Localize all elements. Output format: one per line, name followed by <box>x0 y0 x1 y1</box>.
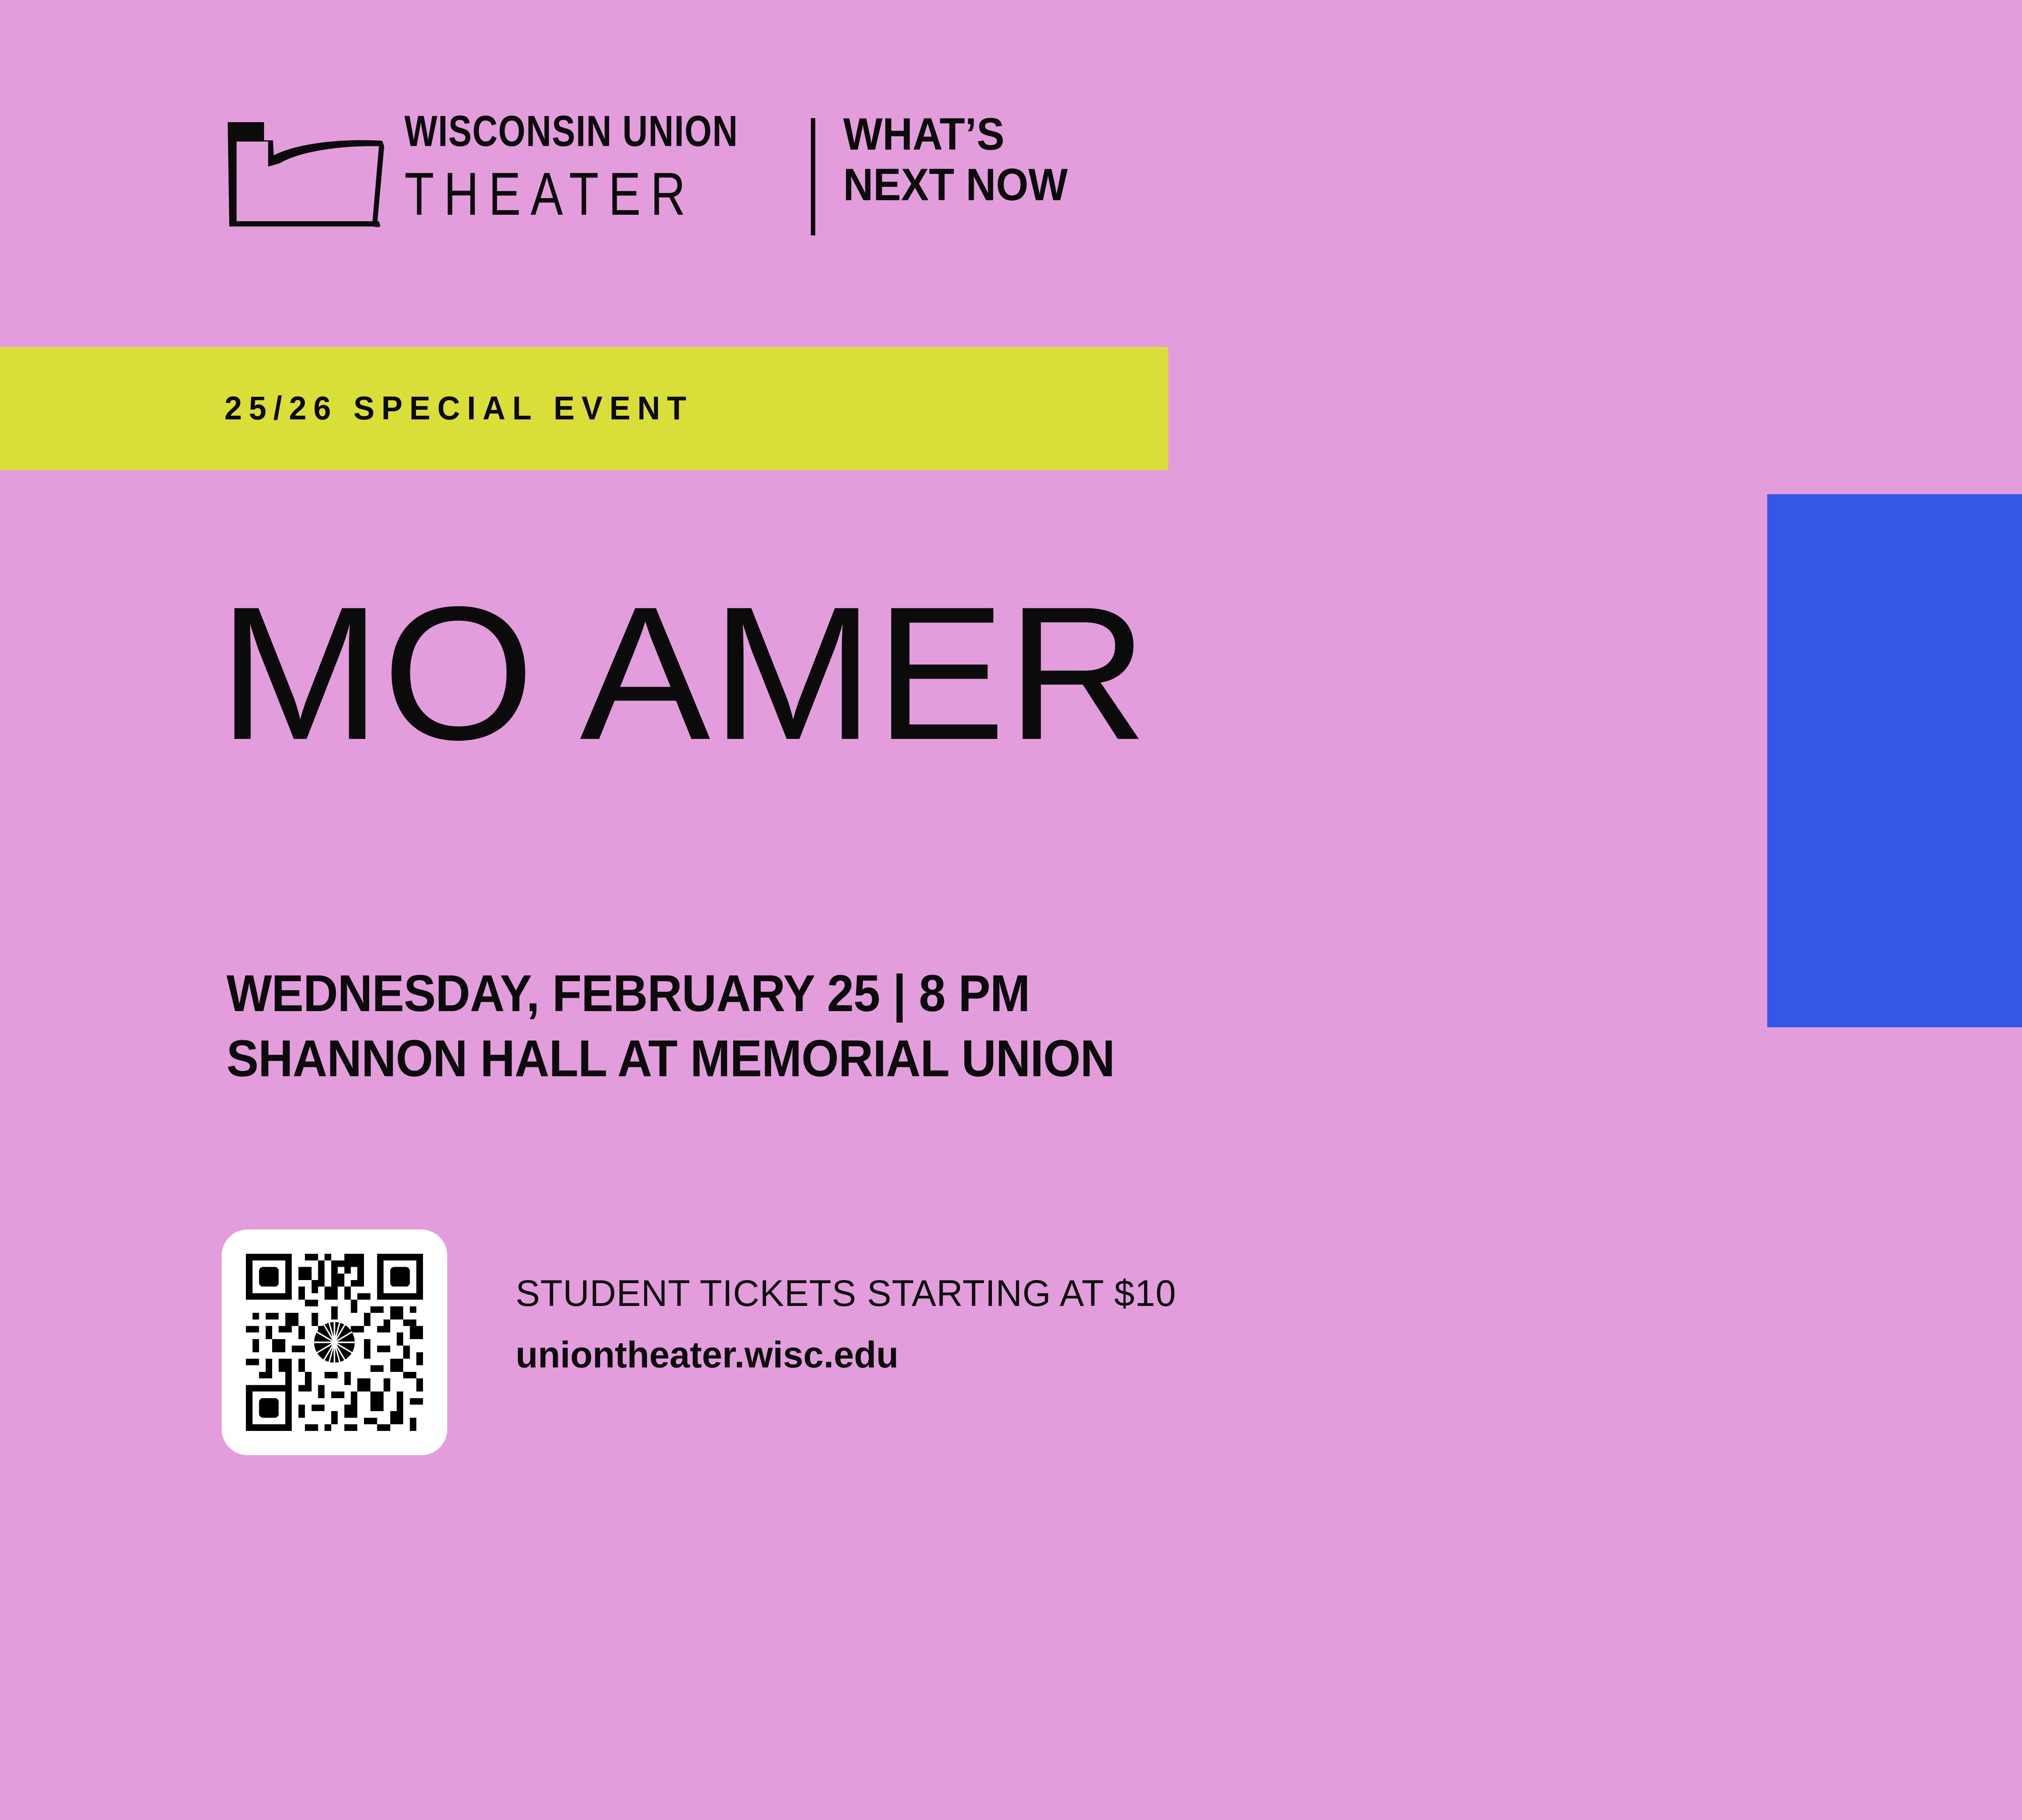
logo-wordmark: WISCONSIN UNION THEATER <box>404 109 822 224</box>
logo-tagline: WHAT’S NEXT NOW <box>843 112 1087 207</box>
logo-line-wisconsin-union: WISCONSIN UNION <box>404 109 738 153</box>
page-title: MO AMER <box>218 578 1149 768</box>
ticket-price-line: STUDENT TICKETS STARTING AT $10 <box>516 1270 1176 1318</box>
ticket-url[interactable]: uniontheater.wisc.edu <box>516 1331 1176 1379</box>
event-venue: SHANNON HALL AT MEMORIAL UNION <box>226 1030 1115 1088</box>
logo-divider <box>811 118 815 235</box>
wisconsin-union-theater-logo[interactable]: WISCONSIN UNION THEATER <box>220 109 822 233</box>
blue-accent-block <box>1767 494 2022 1027</box>
event-poster: WISCONSIN UNION THEATER WHAT’S NEXT NOW … <box>0 0 2022 1820</box>
tagline-line-next-now: NEXT NOW <box>843 163 1068 207</box>
qr-card[interactable] <box>222 1230 447 1455</box>
union-theater-mark-icon <box>220 118 388 233</box>
qr-code-block[interactable] <box>222 1230 447 1455</box>
logo-line-theater: THEATER <box>404 163 738 224</box>
tagline-line-whats: WHAT’S <box>843 112 1068 157</box>
event-date-time: WEDNESDAY, FEBRUARY 25 | 8 PM <box>226 965 1115 1022</box>
badge-label: 25/26 SPECIAL EVENT <box>224 389 693 427</box>
ticket-info: STUDENT TICKETS STARTING AT $10 unionthe… <box>516 1270 1190 1379</box>
special-event-badge: 25/26 SPECIAL EVENT <box>0 347 1168 470</box>
event-details: WEDNESDAY, FEBRUARY 25 | 8 PM SHANNON HA… <box>226 965 1182 1088</box>
qr-code-icon <box>239 1247 429 1437</box>
